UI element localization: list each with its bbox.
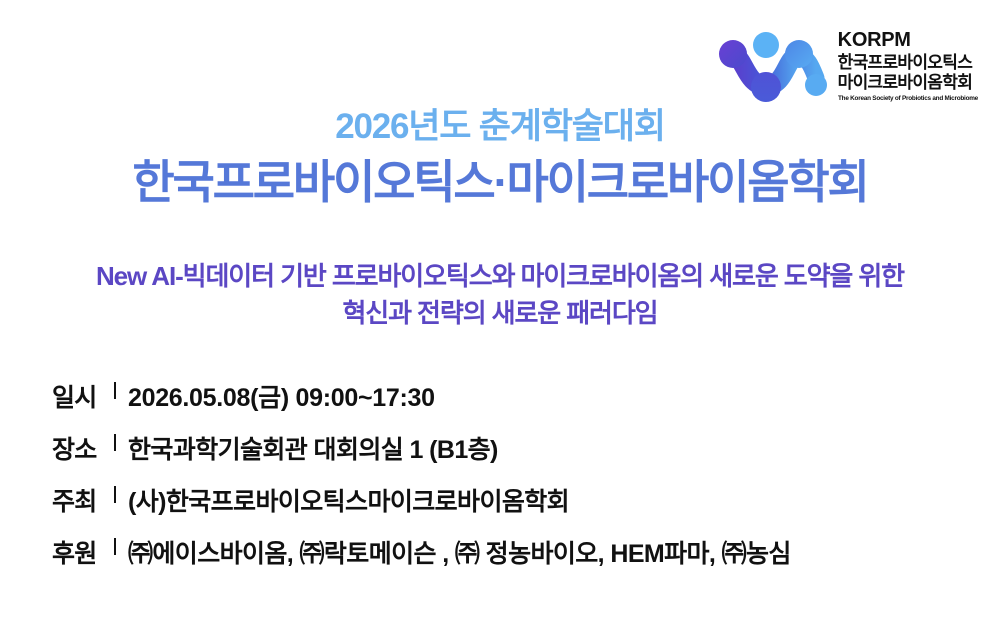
- society-logo: KORPM 한국프로바이오틱스 마이크로바이옴학회 The Korean Soc…: [716, 28, 982, 104]
- society-title: 한국프로바이오틱스·마이크로바이옴학회: [0, 156, 1000, 209]
- logo-name-line1: 한국프로바이오틱스: [838, 53, 982, 73]
- detail-value-datetime: 2026.05.08(금) 09:00~17:30: [128, 378, 435, 414]
- logo-text-block: KORPM 한국프로바이오틱스 마이크로바이옴학회 The Korean Soc…: [838, 30, 982, 103]
- detail-row-host: 주최 (사)한국프로바이오틱스마이크로바이옴학회: [52, 482, 791, 518]
- detail-row-venue: 장소 한국과학기술회관 대회의실 1 (B1층): [52, 430, 791, 466]
- korpm-molecule-logo-icon: [716, 28, 828, 104]
- detail-label-host: 주최: [52, 482, 108, 518]
- detail-value-sponsors: ㈜에이스바이옴, ㈜락토메이슨 , ㈜ 정농바이오, HEM파마, ㈜농심: [128, 534, 791, 570]
- theme-line-2: 혁신과 전략의 새로운 패러다임: [0, 295, 1000, 332]
- detail-separator-icon: [114, 486, 116, 503]
- detail-separator-icon: [114, 382, 116, 399]
- theme-line-1: New AI-빅데이터 기반 프로바이오틱스와 마이크로바이옴의 새로운 도약을…: [0, 258, 1000, 295]
- detail-label-datetime: 일시: [52, 378, 108, 414]
- logo-tagline: The Korean Society of Probiotics and Mic…: [838, 96, 978, 103]
- conference-year-line: 2026년도 춘계학술대회: [0, 108, 1000, 147]
- logo-name-line2: 마이크로바이옴학회: [838, 73, 982, 93]
- detail-row-datetime: 일시 2026.05.08(금) 09:00~17:30: [52, 378, 791, 414]
- detail-row-sponsors: 후원 ㈜에이스바이옴, ㈜락토메이슨 , ㈜ 정농바이오, HEM파마, ㈜농심: [52, 534, 791, 570]
- conference-theme: New AI-빅데이터 기반 프로바이오틱스와 마이크로바이옴의 새로운 도약을…: [0, 258, 1000, 332]
- detail-value-host: (사)한국프로바이오틱스마이크로바이옴학회: [128, 482, 569, 518]
- logo-acronym: KORPM: [838, 30, 982, 50]
- event-details: 일시 2026.05.08(금) 09:00~17:30 장소 한국과학기술회관…: [52, 378, 791, 586]
- detail-value-venue: 한국과학기술회관 대회의실 1 (B1층): [128, 430, 498, 466]
- page-title-block: 2026년도 춘계학술대회 한국프로바이오틱스·마이크로바이옴학회: [0, 108, 1000, 208]
- detail-label-sponsors: 후원: [52, 534, 108, 570]
- detail-label-venue: 장소: [52, 430, 108, 466]
- detail-separator-icon: [114, 434, 116, 451]
- detail-separator-icon: [114, 538, 116, 555]
